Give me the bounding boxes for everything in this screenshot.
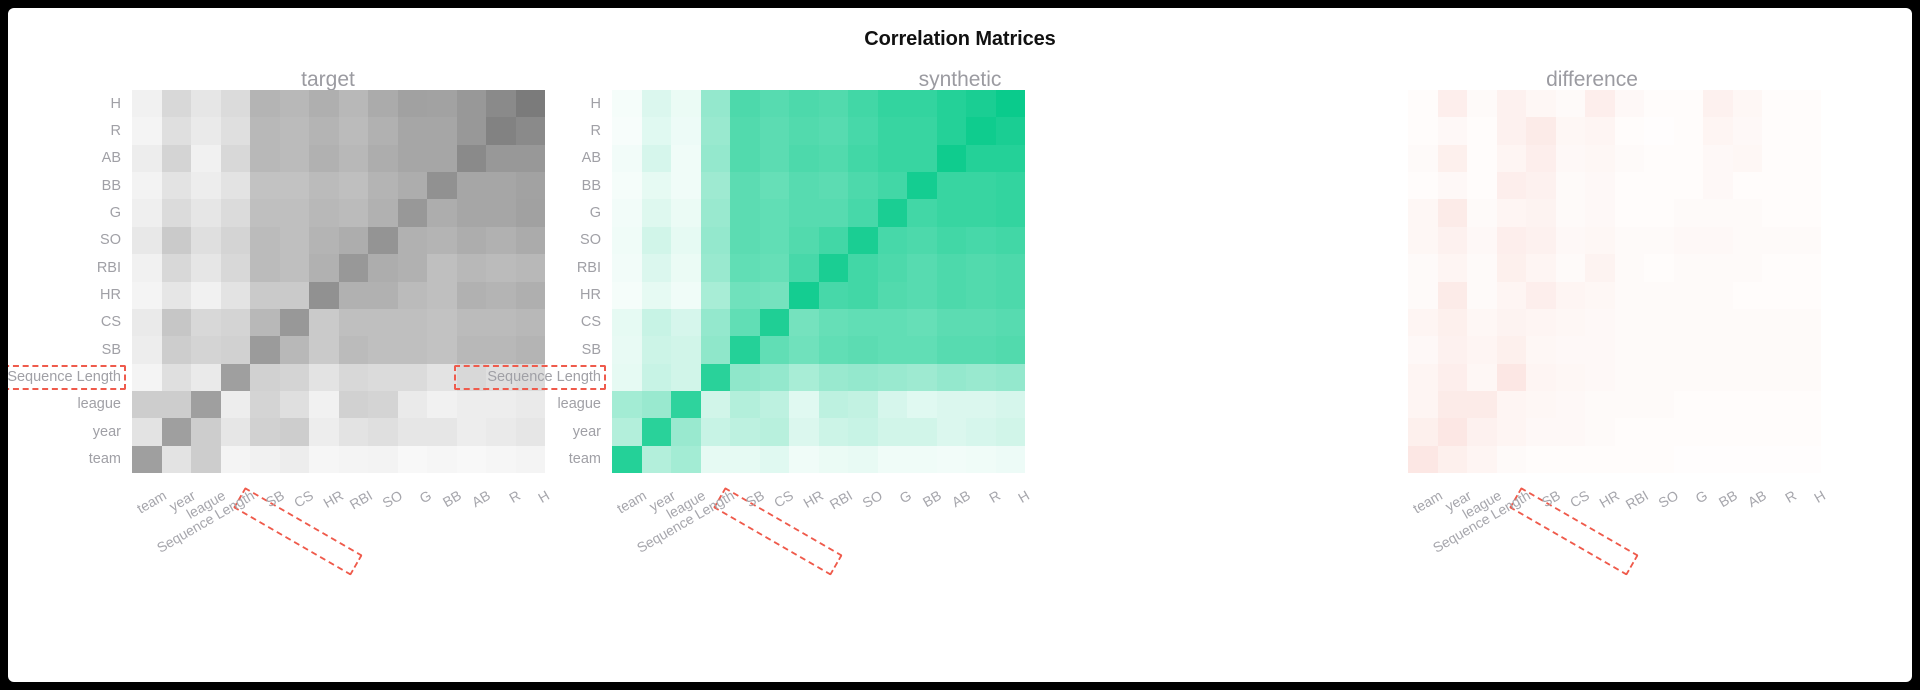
heatmap-cell <box>250 446 280 473</box>
heatmap-cell <box>701 117 731 144</box>
heatmap-cell <box>309 282 339 309</box>
x-tick-team[interactable]: team <box>1410 487 1445 516</box>
heatmap-cell <box>280 90 310 117</box>
heatmap-cell <box>937 145 967 172</box>
heatmap-cell <box>642 227 672 254</box>
heatmap-cell <box>789 172 819 199</box>
heatmap-cell <box>1792 446 1822 473</box>
heatmap-cell <box>1674 227 1704 254</box>
heatmap-cell <box>1408 90 1438 117</box>
heatmap-cell <box>191 117 221 144</box>
heatmap-cell <box>132 145 162 172</box>
heatmap-cell <box>1792 199 1822 226</box>
heatmap-cell <box>339 336 369 363</box>
heatmap-cell <box>1703 199 1733 226</box>
x-axis-labels-synthetic: teamyearleagueSequence LengthSBCSHRRBISO… <box>612 481 1025 601</box>
heatmap-cell <box>1733 90 1763 117</box>
y-tick-r[interactable]: R <box>8 117 132 144</box>
heatmap-cell <box>162 364 192 391</box>
heatmap-cell <box>730 364 760 391</box>
heatmap-cell <box>280 117 310 144</box>
x-tick-r[interactable]: R <box>1782 487 1799 506</box>
heatmap-cell <box>368 336 398 363</box>
heatmap-cell <box>1703 254 1733 281</box>
heatmap-cell <box>1762 446 1792 473</box>
heatmap-cell <box>1762 364 1792 391</box>
heatmap-cell <box>221 364 251 391</box>
heatmap-cell <box>1438 254 1468 281</box>
heatmap-cell <box>878 145 908 172</box>
heatmap-cell <box>1467 172 1497 199</box>
heatmap-cell <box>701 227 731 254</box>
heatmap-cell <box>1674 145 1704 172</box>
heatmap-cell <box>368 364 398 391</box>
y-tick-sequence-length[interactable]: Sequence Length <box>8 363 132 390</box>
heatmap-cell <box>760 254 790 281</box>
heatmap-cell <box>1644 199 1674 226</box>
heatmap-cell <box>1438 418 1468 445</box>
heatmap-cell <box>907 336 937 363</box>
heatmap-cell <box>848 172 878 199</box>
heatmap-cell <box>642 90 672 117</box>
heatmap-cell <box>280 172 310 199</box>
heatmap-cell <box>1792 282 1822 309</box>
heatmap-cell <box>1615 364 1645 391</box>
heatmap-cell <box>671 254 701 281</box>
heatmap-cell <box>819 418 849 445</box>
heatmap-cell <box>1526 446 1556 473</box>
heatmap-cell <box>1733 117 1763 144</box>
y-tick-sb[interactable]: SB <box>8 336 132 363</box>
heatmap-cell <box>878 90 908 117</box>
heatmap-cell <box>819 282 849 309</box>
heatmap-cell <box>937 282 967 309</box>
heatmap-cell <box>1762 391 1792 418</box>
heatmap-cell <box>1556 90 1586 117</box>
heatmap-cell <box>701 145 731 172</box>
heatmap-cell <box>966 364 996 391</box>
heatmap-cell <box>191 336 221 363</box>
heatmap-cell <box>1556 117 1586 144</box>
heatmap-cell <box>1497 90 1527 117</box>
heatmap-cell <box>250 117 280 144</box>
panel-title-difference: difference <box>1272 68 1912 92</box>
y-tick-bb[interactable]: BB <box>452 172 612 199</box>
y-tick-cs[interactable]: CS <box>8 309 132 336</box>
heatmap-cell <box>966 117 996 144</box>
heatmap-cell <box>191 227 221 254</box>
heatmap-cell <box>1467 418 1497 445</box>
x-tick-cs[interactable]: CS <box>291 487 316 511</box>
heatmap-cell <box>1497 117 1527 144</box>
heatmap-cell <box>789 282 819 309</box>
heatmap-cell <box>996 199 1026 226</box>
heatmap-cell <box>760 282 790 309</box>
x-tick-sb[interactable]: SB <box>263 487 287 510</box>
heatmap-cell <box>1497 418 1527 445</box>
heatmap-cell <box>1467 446 1497 473</box>
heatmap-cell <box>878 172 908 199</box>
heatmap-cell <box>1438 391 1468 418</box>
x-tick-rbi[interactable]: RBI <box>1623 487 1651 513</box>
heatmap-cell <box>730 336 760 363</box>
heatmap-cell <box>612 418 642 445</box>
heatmap-cell <box>996 227 1026 254</box>
heatmap-cell <box>701 90 731 117</box>
heatmap-cell <box>339 418 369 445</box>
x-tick-ab[interactable]: AB <box>469 487 493 510</box>
heatmap-cell <box>1792 309 1822 336</box>
heatmap-cell <box>1526 145 1556 172</box>
x-tick-cs[interactable]: CS <box>771 487 796 511</box>
heatmap-cell <box>907 282 937 309</box>
heatmap-cell <box>848 391 878 418</box>
heatmap-cell <box>132 90 162 117</box>
heatmap-cell <box>250 227 280 254</box>
y-tick-league[interactable]: league <box>452 391 612 418</box>
heatmap-cell <box>398 282 428 309</box>
heatmap-cell <box>162 227 192 254</box>
heatmap-cell <box>250 282 280 309</box>
heatmap-cell <box>221 391 251 418</box>
heatmap-cell <box>1733 172 1763 199</box>
heatmap-cell <box>819 199 849 226</box>
y-tick-so[interactable]: SO <box>452 227 612 254</box>
heatmap-cell <box>280 336 310 363</box>
heatmap-cell <box>789 364 819 391</box>
heatmap-cell <box>280 364 310 391</box>
heatmap-cell <box>1438 446 1468 473</box>
heatmap-cell <box>339 227 369 254</box>
heatmap-cell <box>612 199 642 226</box>
x-tick-bb[interactable]: BB <box>440 487 464 510</box>
heatmap-cell <box>907 227 937 254</box>
y-tick-rbi[interactable]: RBI <box>452 254 612 281</box>
heatmap-cell <box>1408 446 1438 473</box>
x-tick-so[interactable]: SO <box>1655 487 1681 511</box>
heatmap-cell <box>701 282 731 309</box>
y-tick-r[interactable]: R <box>452 117 612 144</box>
heatmap-cell <box>191 172 221 199</box>
heatmap-cell <box>701 391 731 418</box>
heatmap-cell <box>1526 117 1556 144</box>
heatmap-cell <box>701 364 731 391</box>
heatmap-cell <box>1526 336 1556 363</box>
heatmap-cell <box>398 391 428 418</box>
heatmap-cell <box>1438 199 1468 226</box>
x-tick-g[interactable]: G <box>417 487 434 506</box>
heatmap-cell <box>730 145 760 172</box>
heatmap-cell <box>221 254 251 281</box>
heatmap-cell <box>250 199 280 226</box>
heatmap-cell <box>1408 282 1438 309</box>
x-tick-g[interactable]: G <box>897 487 914 506</box>
x-tick-cs[interactable]: CS <box>1567 487 1592 511</box>
y-tick-year[interactable]: year <box>8 418 132 445</box>
y-tick-rbi[interactable]: RBI <box>8 254 132 281</box>
heatmap-cell <box>162 418 192 445</box>
heatmap-cell <box>907 199 937 226</box>
x-tick-r[interactable]: R <box>986 487 1003 506</box>
heatmap-cell <box>1585 254 1615 281</box>
x-tick-sb[interactable]: SB <box>1539 487 1563 510</box>
x-tick-ab[interactable]: AB <box>1745 487 1769 510</box>
heatmap-cell <box>1526 254 1556 281</box>
heatmap-cell <box>1733 336 1763 363</box>
heatmap-cell <box>1674 90 1704 117</box>
heatmap-cell <box>1556 282 1586 309</box>
heatmap-cell <box>966 172 996 199</box>
heatmap-cell <box>1497 282 1527 309</box>
heatmap-cell <box>1408 117 1438 144</box>
x-axis-labels-target: teamyearleagueSequence LengthSBCSHRRBISO… <box>132 481 545 601</box>
heatmap-cell <box>760 172 790 199</box>
heatmap-cell <box>1556 199 1586 226</box>
heatmap-cell <box>1703 364 1733 391</box>
heatmap-cell <box>132 446 162 473</box>
x-tick-rbi[interactable]: RBI <box>827 487 855 513</box>
heatmap-cell <box>760 364 790 391</box>
heatmap-cell <box>339 391 369 418</box>
heatmap-cell <box>819 446 849 473</box>
heatmap-cell <box>1644 418 1674 445</box>
heatmap-cell <box>907 446 937 473</box>
x-tick-sb[interactable]: SB <box>743 487 767 510</box>
x-tick-rbi[interactable]: RBI <box>347 487 375 513</box>
heatmap-cell <box>966 254 996 281</box>
heatmap-cell <box>1408 172 1438 199</box>
x-tick-team[interactable]: team <box>614 487 649 516</box>
heatmap-cell <box>1556 391 1586 418</box>
heatmap-cell <box>1644 391 1674 418</box>
heatmap-cell <box>1408 364 1438 391</box>
heatmap-cell <box>1792 391 1822 418</box>
heatmap-cell <box>996 309 1026 336</box>
heatmap-cell <box>907 90 937 117</box>
y-tick-team[interactable]: team <box>452 445 612 472</box>
heatmap-cell <box>819 391 849 418</box>
heatmap-cell <box>730 446 760 473</box>
heatmap-cell <box>1556 336 1586 363</box>
heatmap-cell <box>1674 199 1704 226</box>
heatmap-cell <box>907 117 937 144</box>
y-tick-hr[interactable]: HR <box>452 281 612 308</box>
heatmap-cell <box>221 282 251 309</box>
heatmap-cell <box>1762 227 1792 254</box>
y-tick-h[interactable]: H <box>452 90 612 117</box>
y-tick-ab[interactable]: AB <box>8 145 132 172</box>
heatmap-cell <box>339 282 369 309</box>
heatmap-cell <box>966 199 996 226</box>
heatmap-cell <box>398 309 428 336</box>
heatmap-cell <box>1644 172 1674 199</box>
y-tick-hr[interactable]: HR <box>8 281 132 308</box>
heatmap-cell <box>1585 309 1615 336</box>
heatmap-cell <box>221 145 251 172</box>
heatmap-cell <box>1703 418 1733 445</box>
heatmap-cell <box>1438 227 1468 254</box>
heatmap-cell <box>701 199 731 226</box>
heatmap-cell <box>368 199 398 226</box>
heatmap-cell <box>1674 391 1704 418</box>
heatmap-cell <box>221 418 251 445</box>
heatmap-cell <box>1674 282 1704 309</box>
y-tick-team[interactable]: team <box>8 445 132 472</box>
heatmap-cell <box>1703 227 1733 254</box>
heatmap-cell <box>642 117 672 144</box>
heatmap-cell <box>612 254 642 281</box>
x-tick-ab[interactable]: AB <box>949 487 973 510</box>
heatmap-cell <box>309 145 339 172</box>
heatmap-cell <box>907 391 937 418</box>
y-tick-cs[interactable]: CS <box>452 309 612 336</box>
heatmap-cell <box>612 172 642 199</box>
heatmap-cell <box>612 117 642 144</box>
y-tick-ab[interactable]: AB <box>452 145 612 172</box>
heatmap-cell <box>1674 336 1704 363</box>
x-tick-g[interactable]: G <box>1693 487 1710 506</box>
heatmap-cell <box>368 418 398 445</box>
heatmap-cell <box>1762 282 1792 309</box>
panel-title-target: target <box>8 68 648 92</box>
heatmap-cell <box>309 391 339 418</box>
heatmap-cell <box>760 391 790 418</box>
y-tick-league[interactable]: league <box>8 391 132 418</box>
x-tick-hr[interactable]: HR <box>800 487 826 511</box>
y-tick-sb[interactable]: SB <box>452 336 612 363</box>
heatmap-cell <box>398 172 428 199</box>
y-tick-bb[interactable]: BB <box>8 172 132 199</box>
x-tick-so[interactable]: SO <box>859 487 885 511</box>
heatmap-cell <box>398 418 428 445</box>
y-tick-so[interactable]: SO <box>8 227 132 254</box>
heatmap-cell <box>996 391 1026 418</box>
x-tick-hr[interactable]: HR <box>1596 487 1622 511</box>
heatmap-cell <box>132 282 162 309</box>
heatmap-cell <box>339 145 369 172</box>
heatmap-cell <box>671 145 701 172</box>
heatmap-cell <box>221 446 251 473</box>
heatmap-cell <box>1615 446 1645 473</box>
x-tick-hr[interactable]: HR <box>320 487 346 511</box>
x-tick-r[interactable]: R <box>506 487 523 506</box>
heatmap-cell <box>760 145 790 172</box>
y-tick-g[interactable]: G <box>452 199 612 226</box>
heatmap-cell <box>1556 418 1586 445</box>
heatmap-cell <box>612 336 642 363</box>
heatmap-cell <box>1408 309 1438 336</box>
panel-title-synthetic: synthetic <box>640 68 1280 92</box>
heatmap-cell <box>1497 227 1527 254</box>
heatmap-cell <box>612 446 642 473</box>
heatmap-cell <box>309 336 339 363</box>
heatmap-cell <box>191 254 221 281</box>
heatmap-cell <box>642 282 672 309</box>
heatmap-cell <box>250 90 280 117</box>
heatmap-cell <box>339 254 369 281</box>
heatmap-cell <box>191 446 221 473</box>
heatmap-cell <box>730 418 760 445</box>
heatmap-cell <box>760 117 790 144</box>
heatmap-cell <box>730 254 760 281</box>
heatmap-cell <box>789 90 819 117</box>
heatmap-cell <box>132 227 162 254</box>
heatmap-cell <box>1703 336 1733 363</box>
heatmap-cell <box>966 282 996 309</box>
heatmap-cell <box>671 172 701 199</box>
heatmap-cell <box>280 199 310 226</box>
heatmap-cell <box>789 418 819 445</box>
heatmap-cell <box>996 418 1026 445</box>
y-tick-sequence-length[interactable]: Sequence Length <box>452 363 612 390</box>
heatmap-cell <box>878 254 908 281</box>
heatmap-cell <box>398 364 428 391</box>
heatmap-cell <box>1585 199 1615 226</box>
heatmap-cell <box>907 418 937 445</box>
heatmap-cell <box>1644 145 1674 172</box>
heatmap-cell <box>996 90 1026 117</box>
heatmap-cell <box>819 117 849 144</box>
heatmap-cell <box>339 364 369 391</box>
x-tick-team[interactable]: team <box>134 487 169 516</box>
heatmap-cell <box>368 117 398 144</box>
heatmap-cell <box>1467 227 1497 254</box>
heatmap-cell <box>966 446 996 473</box>
heatmap-cell <box>1526 199 1556 226</box>
heatmap-cell <box>1762 172 1792 199</box>
heatmap-cell <box>132 336 162 363</box>
heatmap-cell <box>1526 364 1556 391</box>
heatmap-cell <box>1792 254 1822 281</box>
heatmap-cell <box>162 336 192 363</box>
heatmap-cell <box>1703 391 1733 418</box>
heatmap-cell <box>1644 446 1674 473</box>
heatmap-cell <box>1526 282 1556 309</box>
heatmap-cell <box>280 309 310 336</box>
heatmap-cell <box>937 418 967 445</box>
heatmap-cell <box>1615 227 1645 254</box>
heatmap-cell <box>937 336 967 363</box>
heatmap-cell <box>1703 446 1733 473</box>
heatmap-cell <box>730 90 760 117</box>
heatmap-cell <box>162 90 192 117</box>
heatmap-cell <box>1703 90 1733 117</box>
heatmap-cell <box>937 254 967 281</box>
heatmap-cell <box>1408 227 1438 254</box>
heatmap-cell <box>339 90 369 117</box>
y-tick-g[interactable]: G <box>8 199 132 226</box>
heatmap-cell <box>730 309 760 336</box>
heatmap-cell <box>1644 282 1674 309</box>
heatmap-cell <box>730 199 760 226</box>
heatmap-cell <box>1644 117 1674 144</box>
y-tick-year[interactable]: year <box>452 418 612 445</box>
heatmap-cell <box>162 172 192 199</box>
heatmap-cell <box>1615 199 1645 226</box>
heatmap-cell <box>309 309 339 336</box>
heatmap-cell <box>671 90 701 117</box>
y-tick-h[interactable]: H <box>8 90 132 117</box>
heatmap-cell <box>1615 145 1645 172</box>
heatmap-cell <box>162 117 192 144</box>
heatmap-cell <box>191 364 221 391</box>
heatmap-cell <box>1467 336 1497 363</box>
heatmap-cell <box>848 336 878 363</box>
x-tick-bb[interactable]: BB <box>1716 487 1740 510</box>
x-tick-bb[interactable]: BB <box>920 487 944 510</box>
x-tick-so[interactable]: SO <box>379 487 405 511</box>
heatmap-cell <box>1792 90 1822 117</box>
